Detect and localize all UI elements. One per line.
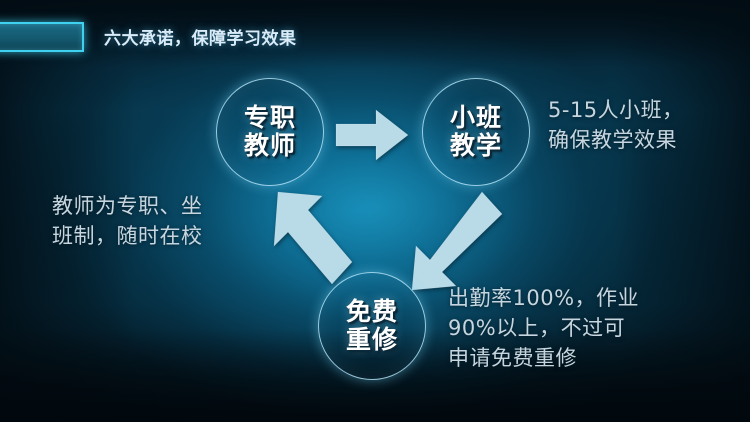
header-accent-bar [0, 22, 84, 52]
node-retake-line1: 免费 [346, 298, 398, 327]
node-class-line2: 教学 [450, 132, 502, 161]
diagram-node-class[interactable]: 小班 教学 [422, 78, 530, 186]
arrow-teacher-to-class [336, 108, 410, 162]
caption-class-size: 5-15人小班， 确保教学效果 [548, 96, 744, 156]
node-teacher-line1: 专职 [244, 104, 296, 133]
diagram-node-teacher[interactable]: 专职 教师 [216, 78, 324, 186]
caption-retake-policy: 出勤率100%，作业 90%以上，不过可 申请免费重修 [448, 284, 748, 373]
arrow-class-to-retake [404, 190, 504, 294]
node-class-line1: 小班 [450, 104, 502, 133]
node-retake-line2: 重修 [346, 326, 398, 355]
node-teacher-line2: 教师 [244, 132, 296, 161]
page-title: 六大承诺，保障学习效果 [104, 24, 297, 49]
slide-canvas: 六大承诺，保障学习效果 专职 教师 小班 教学 免费 重修 教师为专职、坐 班制… [0, 0, 750, 422]
caption-teacher: 教师为专职、坐 班制，随时在校 [52, 192, 264, 252]
arrow-retake-to-teacher [256, 190, 356, 294]
diagram-node-retake[interactable]: 免费 重修 [318, 272, 426, 380]
